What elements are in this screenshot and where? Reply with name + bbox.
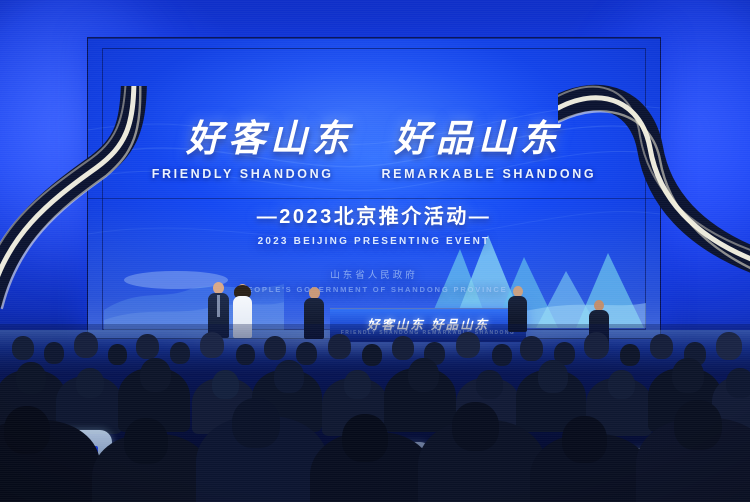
audience-head: [584, 332, 609, 359]
audience-head: [232, 398, 280, 448]
audience-head: [452, 402, 499, 451]
audience-head: [476, 370, 503, 399]
audience-head: [328, 334, 351, 359]
audience-head: [362, 344, 382, 366]
audience-head: [16, 362, 46, 394]
audience-head: [456, 332, 480, 358]
title-cn-left: 好客山东: [186, 120, 354, 157]
audience-head: [342, 414, 388, 462]
audience-head: [200, 332, 224, 358]
audience-head: [608, 370, 635, 399]
audience-area: [0, 324, 750, 502]
audience-head: [650, 334, 673, 359]
audience-head: [212, 370, 239, 399]
audience-head: [74, 332, 98, 358]
audience-head: [726, 368, 750, 398]
audience-head: [674, 400, 722, 450]
audience-head: [140, 358, 171, 392]
audience-head: [12, 336, 34, 360]
audience-head: [392, 336, 414, 360]
audience-head: [136, 334, 159, 359]
audience-head: [76, 368, 104, 398]
audience-head: [44, 342, 64, 364]
audience-head: [672, 358, 704, 393]
audience-head: [344, 370, 371, 399]
audience-head: [562, 416, 607, 463]
audience-head: [274, 360, 304, 393]
curved-ribbon-sculpture-right: [558, 78, 750, 313]
title-cn-right: 好品山东: [394, 120, 562, 157]
audience-head: [236, 344, 255, 365]
audience-head: [716, 332, 742, 360]
audience-head: [538, 360, 568, 393]
curved-ribbon-sculpture-left: [0, 86, 192, 336]
audience-head: [492, 344, 512, 366]
audience-head: [264, 336, 286, 360]
audience-head: [108, 344, 127, 365]
event-photo: 好客山东 好品山东 FRIENDLY SHANDONG REMARKABLE S…: [0, 0, 750, 502]
audience-head: [124, 418, 168, 464]
audience-head: [408, 358, 439, 392]
audience-head: [296, 342, 317, 365]
audience-head: [620, 344, 640, 366]
audience-head: [520, 336, 543, 361]
audience-head: [4, 406, 50, 454]
audience-head: [170, 342, 190, 364]
